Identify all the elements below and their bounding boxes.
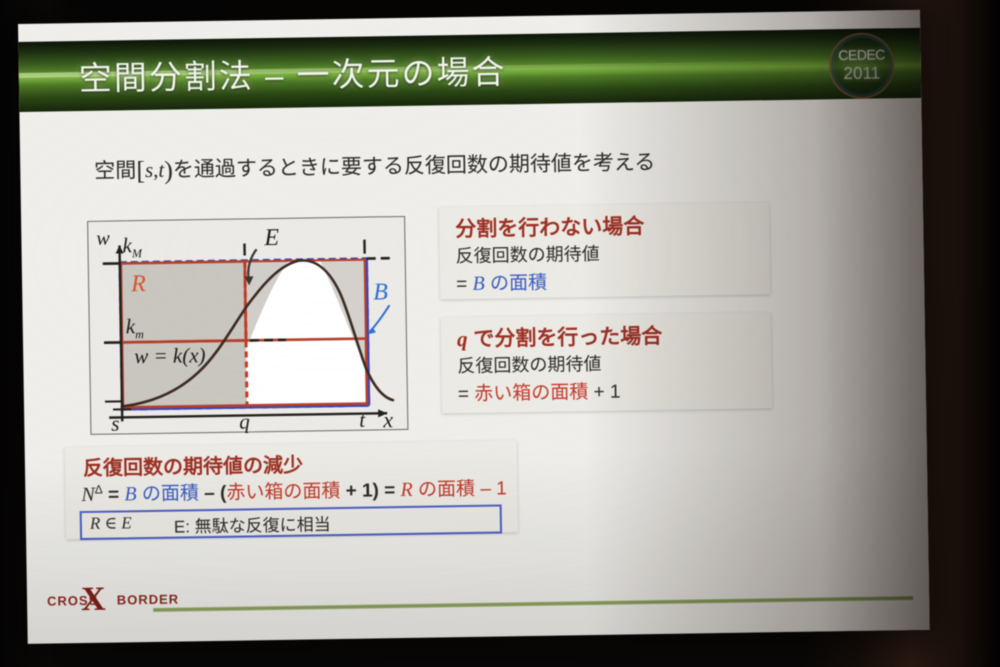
eq-term-redbox: 赤い箱の面積 bbox=[226, 481, 340, 504]
card1-equals: = bbox=[456, 274, 473, 295]
eq-lhs-N: N bbox=[81, 484, 95, 506]
card2-equals: = bbox=[458, 384, 475, 405]
tick-label-q: q bbox=[239, 409, 250, 434]
card2-heading-text: で分割を行った場合 bbox=[467, 325, 662, 351]
expected-iterations-diagram: w kM km R B E w = k(x) s q t x bbox=[87, 216, 408, 435]
lead-text: 空間[s,t)を通過するときに要する反復回数の期待値を考える bbox=[94, 146, 655, 187]
eq-term-R-suffix: の面積 – 1 bbox=[413, 478, 507, 500]
card2-symbol-q: q bbox=[457, 327, 468, 351]
note-R-in-E: R ∈ E bbox=[90, 513, 132, 534]
summary-equation: NΔ = B の面積 – (赤い箱の面積 + 1) = R の面積 – 1 bbox=[81, 473, 507, 507]
cedec-logo-name: CEDEC bbox=[830, 46, 892, 63]
label-R: R bbox=[131, 271, 146, 298]
label-km: km bbox=[126, 314, 144, 342]
card2-row1: 反復回数の期待値 bbox=[457, 350, 601, 378]
lead-suffix: を通過するときに要する反復回数の期待値を考える bbox=[173, 151, 656, 182]
tick-label-t: t bbox=[359, 408, 365, 433]
card1-heading: 分割を行わない場合 bbox=[455, 210, 644, 243]
axis-y-label: w bbox=[96, 228, 110, 251]
footer-green-rule bbox=[153, 596, 913, 612]
slide-title-bar: 空間分割法 – 一次元の場合 CEDEC 2011 bbox=[18, 28, 921, 112]
summary-panel: 反復回数の期待値の減少 NΔ = B の面積 – (赤い箱の面積 + 1) = … bbox=[65, 440, 518, 539]
card2-symbol-redbox: 赤い箱の面積 bbox=[474, 382, 588, 405]
card1-row2-suffix: の面積 bbox=[485, 273, 548, 295]
cedec-logo: CEDEC 2011 bbox=[828, 32, 895, 99]
projected-slide-photo: 空間分割法 – 一次元の場合 CEDEC 2011 空間[s,t)を通過するとき… bbox=[0, 0, 1000, 667]
label-curve-equation: w = k(x) bbox=[134, 343, 206, 369]
dash-km-right bbox=[250, 340, 286, 341]
eq-minus-paren: – ( bbox=[204, 483, 227, 504]
summary-note-box: R ∈ E E: 無駄な反復に相当 bbox=[80, 504, 502, 540]
lead-prefix: 空間 bbox=[94, 159, 136, 183]
presentation-slide: 空間分割法 – 一次元の場合 CEDEC 2011 空間[s,t)を通過するとき… bbox=[18, 10, 930, 644]
eq-equals-1: = bbox=[103, 484, 125, 505]
card2-row2-suffix: + 1 bbox=[588, 382, 621, 404]
card1-symbol-B: B bbox=[472, 273, 485, 295]
eq-term-R: R bbox=[400, 479, 413, 501]
arrow-B-line bbox=[369, 305, 389, 331]
label-E: E bbox=[264, 225, 279, 252]
label-kM: kM bbox=[122, 233, 142, 261]
crossborder-logo: CROSS BORDER bbox=[47, 592, 179, 609]
logo-x-mark: X bbox=[81, 581, 106, 619]
card2-row2: = 赤い箱の面積 + 1 bbox=[458, 377, 621, 407]
cedec-logo-year: 2011 bbox=[831, 63, 893, 84]
note-E-description: E: 無駄な反復に相当 bbox=[174, 510, 331, 537]
card-split-at-q-case: q で分割を行った場合 反復回数の期待値 = 赤い箱の面積 + 1 bbox=[441, 312, 772, 413]
eq-equals-2: = bbox=[379, 480, 401, 501]
label-B: B bbox=[373, 279, 388, 306]
eq-term-B-suffix: の面積 bbox=[136, 483, 204, 505]
axis-x-label: x bbox=[383, 407, 393, 433]
card-no-split-case: 分割を行わない場合 反復回数の期待値 = B の面積 bbox=[439, 202, 770, 299]
eq-plus-one: + 1) bbox=[340, 480, 379, 502]
card1-row2: = B の面積 bbox=[456, 268, 547, 296]
page-title: 空間分割法 – 一次元の場合 bbox=[78, 45, 506, 100]
logo-text-border: BORDER bbox=[117, 592, 180, 608]
eq-term-B: B bbox=[124, 483, 137, 505]
card2-heading: q で分割を行った場合 bbox=[457, 320, 663, 353]
card1-row1: 反復回数の期待値 bbox=[455, 240, 599, 268]
tick-label-s: s bbox=[111, 411, 120, 436]
